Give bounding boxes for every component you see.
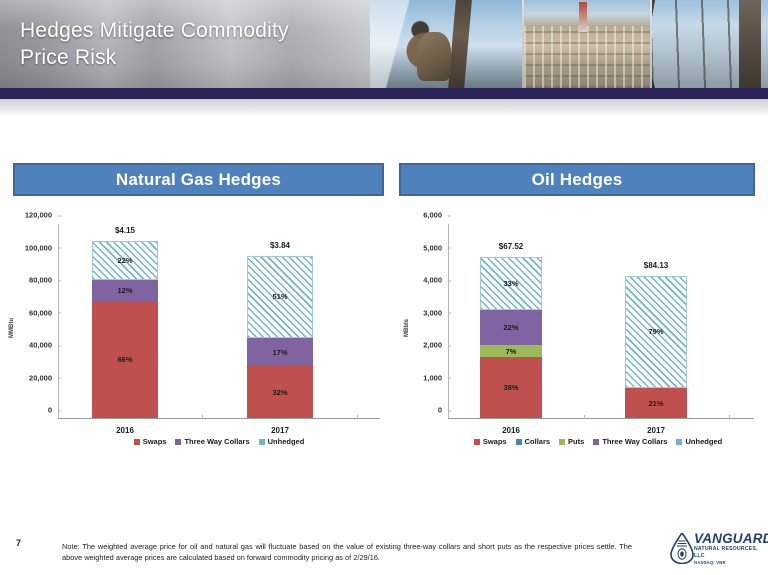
legend-label: Unhedged [268,437,305,446]
header-divider-bar [0,88,768,99]
bar-2017[interactable]: 79%21% [625,276,687,418]
footnote: Note: The weighted average price for oil… [62,541,632,563]
page-title: Hedges Mitigate Commodity Price Risk [20,17,370,71]
y-axis-tick: 0 [438,406,448,415]
legend-item-unhedged[interactable]: Unhedged [259,437,305,446]
segment-percent-label: 32% [272,388,287,397]
page-number: 7 [16,538,21,548]
bar-price-label: $67.52 [499,242,523,251]
x-axis-label-2017: 2017 [271,426,289,435]
legend-swatch-icon [474,439,480,445]
bar-segment-three-way-collars: 22% [480,310,542,345]
y-axis-tick: 3,000 [423,308,448,317]
y-axis-tick: 2,000 [423,341,448,350]
drilling-derrick-photo [652,0,768,88]
gas-y-axis-title: MMBtu [9,318,15,338]
natural-gas-banner: Natural Gas Hedges [13,163,384,196]
logo-ticker: NASDAQ: VNR [694,560,764,566]
page-title-line1: Hedges Mitigate Commodity [20,17,370,44]
segment-percent-label: 12% [117,286,132,295]
water-drop-icon [670,533,694,564]
gas-plot-area: 020,00040,00060,00080,000100,000120,0002… [58,224,380,419]
segment-percent-label: 7% [506,347,517,356]
bar-segment-swaps: 38% [480,357,542,418]
bar-2016[interactable]: 22%12%66% [92,241,158,418]
bar-segment-three-way-collars: 12% [92,280,158,301]
bar-segment-puts: 7% [480,345,542,356]
y-axis-tick: 20,000 [29,373,58,382]
bar-segment-unhedged: 33% [480,257,542,310]
bar-2017[interactable]: 51%17%32% [247,256,313,419]
legend-item-swaps[interactable]: Swaps [474,437,507,446]
segment-percent-label: 17% [272,348,287,357]
x-axis-tick [584,415,585,419]
x-axis-tick [202,415,203,419]
segment-percent-label: 22% [117,256,132,265]
legend-label: Three Way Collars [602,437,667,446]
oil-chart: MBbls 01,0002,0003,0004,0005,0006,00033%… [396,218,768,438]
segment-percent-label: 21% [648,399,663,408]
header-photo-strip [370,0,768,88]
legend-swatch-icon [134,439,140,445]
oil-legend: SwapsCollarsPutsThree Way CollarsUnhedge… [440,437,756,446]
y-axis-tick: 0 [48,406,58,415]
legend-item-puts[interactable]: Puts [559,437,584,446]
y-axis-tick: 100,000 [25,243,58,252]
x-axis-label-2017: 2017 [647,426,665,435]
bar-price-label: $3.84 [270,241,290,250]
oil-panel: Oil Hedges [399,163,755,196]
logo-company-name: VANGUARD [694,532,764,546]
bar-segment-swaps: 32% [247,366,313,418]
y-axis-tick: 80,000 [29,276,58,285]
gas-processing-plant-photo [524,0,650,88]
legend-item-three-way-collars[interactable]: Three Way Collars [593,437,667,446]
bar-segment-unhedged: 51% [247,256,313,339]
segment-percent-label: 51% [272,292,287,301]
y-axis-tick: 120,000 [25,211,58,220]
legend-swatch-icon [516,439,522,445]
y-axis-tick: 5,000 [423,243,448,252]
legend-label: Puts [568,437,584,446]
legend-label: Swaps [143,437,167,446]
slide-header: Hedges Mitigate Commodity Price Risk [0,0,768,92]
bar-segment-swaps: 21% [625,388,687,418]
page-title-line2: Price Risk [20,44,370,71]
legend-label: Swaps [483,437,507,446]
oil-y-axis-line [448,224,449,419]
vanguard-logo: VANGUARD NATURAL RESOURCES, LLC NASDAQ: … [668,530,764,570]
y-axis-tick: 60,000 [29,308,58,317]
x-axis-tick [729,415,730,419]
legend-item-unhedged[interactable]: Unhedged [676,437,722,446]
oil-y-axis-title: MBbls [404,319,410,337]
oil-plot-area: 01,0002,0003,0004,0005,0006,00033%22%7%3… [448,224,754,419]
oil-banner: Oil Hedges [399,163,755,196]
bar-segment-unhedged: 79% [625,276,687,388]
rig-worker-photo [370,0,522,88]
oil-x-axis-line [448,418,754,419]
y-axis-tick: 40,000 [29,341,58,350]
legend-swatch-icon [175,439,181,445]
bar-2016[interactable]: 33%22%7%38% [480,257,542,418]
y-axis-tick: 1,000 [423,373,448,382]
bar-segment-unhedged: 22% [92,241,158,280]
gas-legend: SwapsThree Way CollarsUnhedged [58,437,380,446]
segment-percent-label: 22% [503,323,518,332]
y-axis-tick: 6,000 [423,211,448,220]
bar-price-label: $4.15 [115,226,135,235]
legend-label: Unhedged [685,437,722,446]
x-axis-label-2016: 2016 [502,426,520,435]
legend-label: Collars [525,437,550,446]
legend-swatch-icon [676,439,682,445]
natural-gas-chart: MMBtu 020,00040,00060,00080,000100,00012… [0,218,392,438]
segment-percent-label: 33% [503,279,518,288]
x-axis-label-2016: 2016 [116,426,134,435]
bar-segment-swaps: 66% [92,301,158,418]
bar-price-label: $84.13 [644,261,668,270]
legend-item-swaps[interactable]: Swaps [134,437,167,446]
legend-swatch-icon [259,439,265,445]
x-axis-tick [357,415,358,419]
legend-swatch-icon [559,439,565,445]
legend-label: Three Way Collars [184,437,249,446]
gas-x-axis-line [58,418,380,419]
segment-percent-label: 66% [117,355,132,364]
legend-swatch-icon [593,439,599,445]
bar-segment-three-way-collars: 17% [247,338,313,366]
natural-gas-panel: Natural Gas Hedges [13,163,384,196]
gas-y-axis-line [58,224,59,419]
segment-percent-label: 38% [503,383,518,392]
y-axis-tick: 4,000 [423,276,448,285]
logo-text-block: VANGUARD NATURAL RESOURCES, LLC NASDAQ: … [694,532,764,566]
header-shadow-fade [0,99,768,117]
legend-item-three-way-collars[interactable]: Three Way Collars [175,437,249,446]
segment-percent-label: 79% [648,327,663,336]
legend-item-collars[interactable]: Collars [516,437,550,446]
logo-subtitle: NATURAL RESOURCES, LLC [694,546,764,560]
